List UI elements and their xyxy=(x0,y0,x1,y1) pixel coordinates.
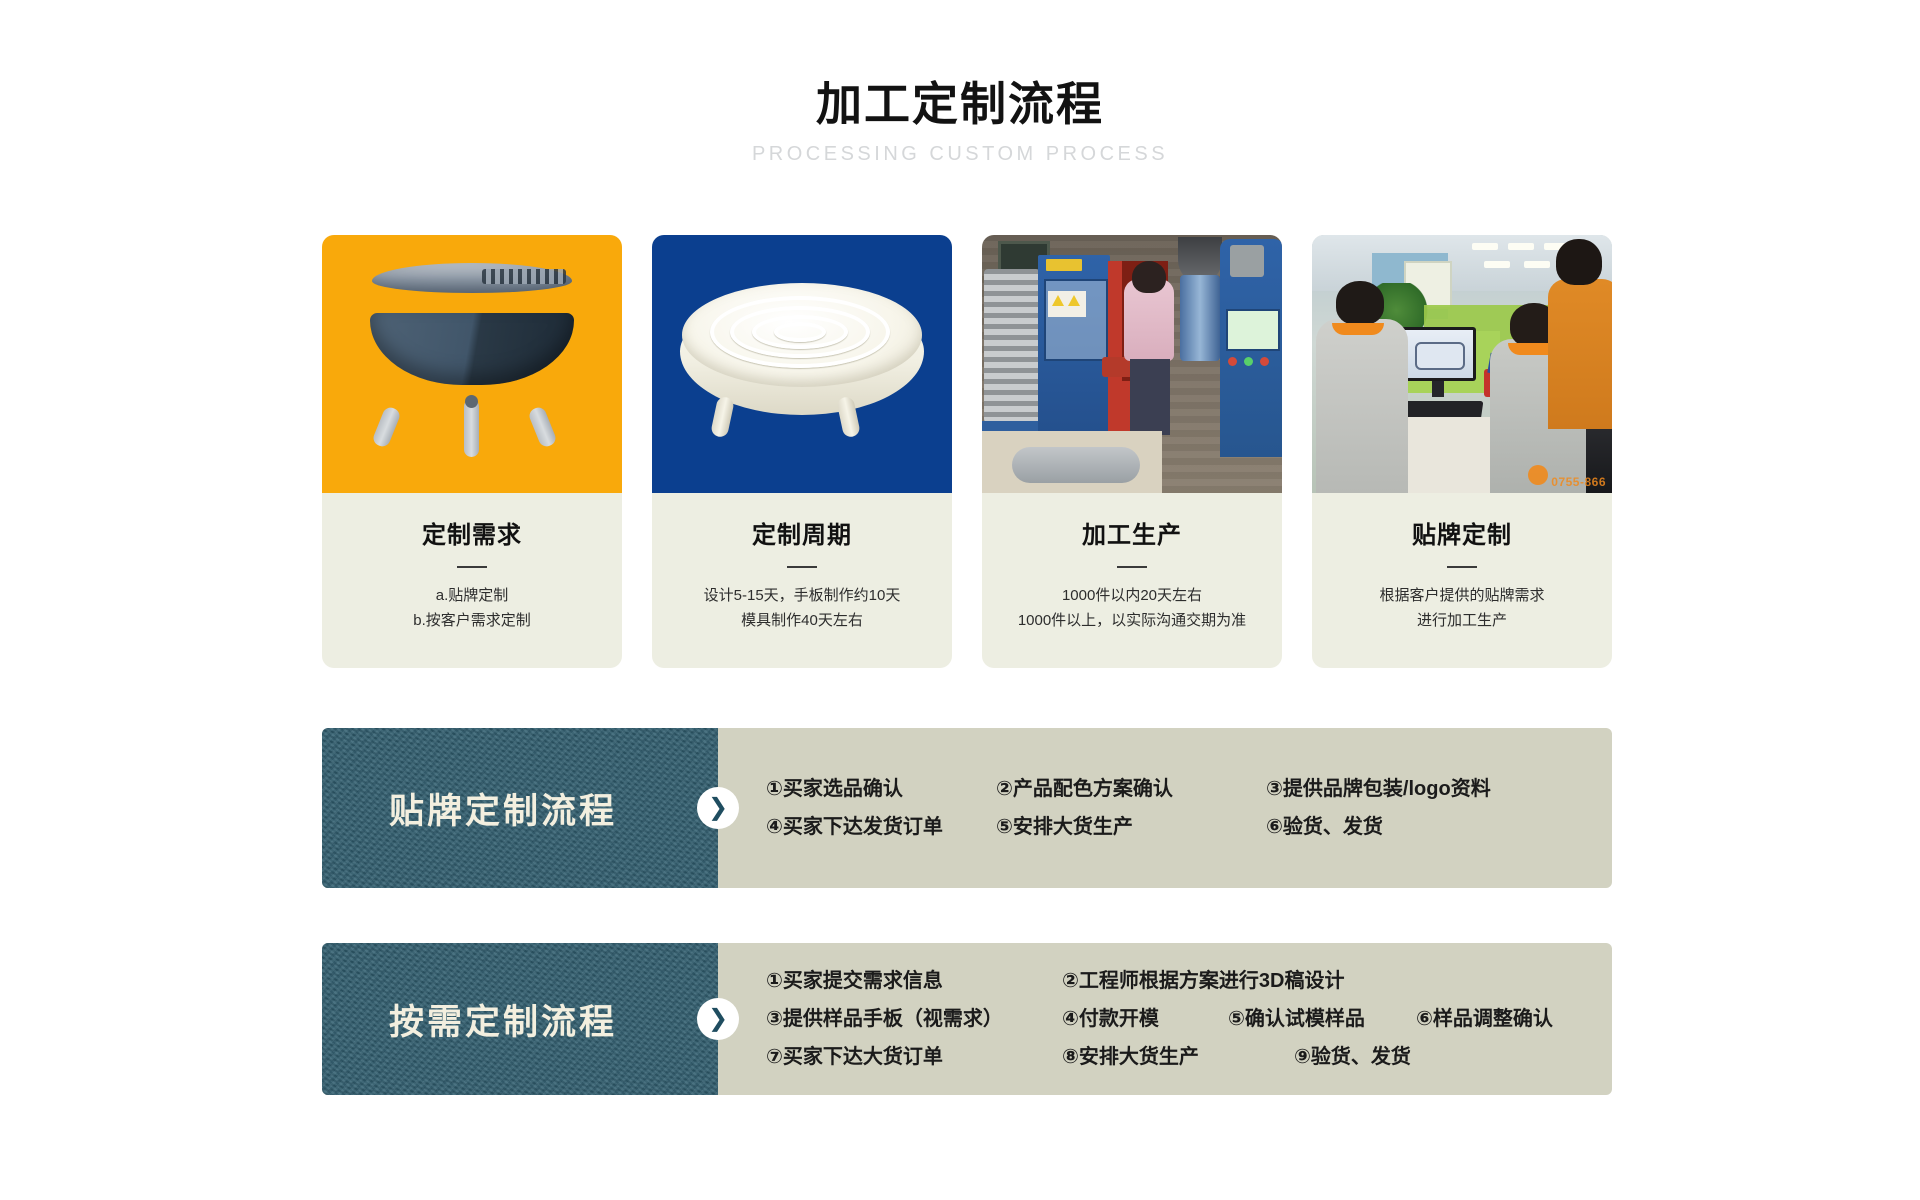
card-body-1: 定制需求 a.贴牌定制 b.按客户需求定制 xyxy=(322,493,622,668)
grill-leg-center xyxy=(464,399,479,457)
grill-lid-shape xyxy=(372,263,572,293)
engineer-3-head xyxy=(1556,239,1602,285)
card-media-3 xyxy=(982,235,1282,493)
oem-process-label: 贴牌定制流程 ❯ xyxy=(322,728,718,888)
ceiling-light xyxy=(1484,261,1510,268)
grill-bowl-shape xyxy=(370,313,574,385)
engineer-1-head xyxy=(1336,281,1384,325)
engineer-3-body xyxy=(1548,279,1612,429)
process-step: ③提供样品手板（视需求） xyxy=(766,1009,1062,1029)
process-card-production[interactable]: 加工生产 1000件以内20天左右 1000件以上，以实际沟通交期为准 xyxy=(982,235,1282,668)
process-step: ④买家下达发货订单 xyxy=(766,817,996,837)
engineer-1-collar xyxy=(1332,323,1384,335)
panel-button-green xyxy=(1244,357,1253,366)
engineering-office-photo: 0755-866 xyxy=(1312,235,1612,493)
step-row: ①买家选品确认 ②产品配色方案确认 ③提供品牌包装/logo资料 xyxy=(766,779,1612,799)
computer-monitor xyxy=(1400,327,1476,381)
process-card-oem-custom[interactable]: 0755-866 贴牌定制 根据客户提供的贴牌需求 进行加工生产 xyxy=(1312,235,1612,668)
process-step: ⑤确认试模样品 xyxy=(1228,1009,1416,1029)
process-step: ⑨验货、发货 xyxy=(1294,1047,1482,1067)
machine-yellow-label xyxy=(1046,259,1082,271)
card-body-3: 加工生产 1000件以内20天左右 1000件以上，以实际沟通交期为准 xyxy=(982,493,1282,668)
card-divider xyxy=(1117,566,1147,568)
ceiling-light xyxy=(1524,261,1550,268)
banner-label-text: 按需定制流程 xyxy=(389,994,651,1045)
monitor-screen xyxy=(1403,330,1473,378)
card-media-1 xyxy=(322,235,622,493)
watermark-logo-icon xyxy=(1528,465,1548,485)
process-step: ②工程师根据方案进行3D稿设计 xyxy=(1062,971,1345,991)
ceiling-light xyxy=(1508,243,1534,250)
process-page: 加工定制流程 PROCESSING CUSTOM PROCESS 定制需求 a.… xyxy=(0,0,1920,1200)
step-row: ⑦买家下达大货订单 ⑧安排大货生产 ⑨验货、发货 xyxy=(766,1047,1612,1067)
prototype-leg-left xyxy=(710,396,735,439)
process-step: ①买家选品确认 xyxy=(766,779,996,799)
ondemand-process-banner: 按需定制流程 ❯ ①买家提交需求信息 ②工程师根据方案进行3D稿设计 ③提供样品… xyxy=(322,943,1612,1095)
step-row: ③提供样品手板（视需求） ④付款开模 ⑤确认试模样品 ⑥样品调整确认 xyxy=(766,1009,1612,1029)
card-divider xyxy=(457,566,487,568)
chevron-right-icon: ❯ xyxy=(697,787,739,829)
process-card-row: 定制需求 a.贴牌定制 b.按客户需求定制 定制周期 xyxy=(322,235,1612,668)
card-description: 根据客户提供的贴牌需求 进行加工生产 xyxy=(1322,584,1602,634)
chevron-right-icon: ❯ xyxy=(697,998,739,1040)
page-title: 加工定制流程 xyxy=(0,78,1920,131)
metal-cylinder xyxy=(1180,275,1220,361)
grill-leg-right xyxy=(527,405,558,448)
card-title: 加工生产 xyxy=(992,515,1272,550)
card-description: a.贴牌定制 b.按客户需求定制 xyxy=(332,584,612,634)
worker-legs xyxy=(1130,359,1170,435)
panel-button-red xyxy=(1228,357,1237,366)
process-step: ⑥样品调整确认 xyxy=(1416,1009,1553,1029)
process-card-custom-cycle[interactable]: 定制周期 设计5-15天，手板制作约10天 模具制作40天左右 xyxy=(652,235,952,668)
panel-main-screen xyxy=(1226,309,1280,351)
watermark-text: 0755-866 xyxy=(1551,475,1606,489)
ceiling-light xyxy=(1472,243,1498,250)
card-divider xyxy=(1447,566,1477,568)
page-subtitle: PROCESSING CUSTOM PROCESS xyxy=(0,143,1920,166)
cad-drawing xyxy=(1415,342,1465,370)
process-step: ⑥验货、发货 xyxy=(1266,817,1383,837)
worker-head xyxy=(1132,261,1166,293)
stacked-parts xyxy=(984,269,1040,423)
molded-part xyxy=(1012,447,1140,483)
oem-process-steps: ①买家选品确认 ②产品配色方案确认 ③提供品牌包装/logo资料 ④买家下达发货… xyxy=(718,728,1612,888)
warning-sign xyxy=(1048,291,1086,317)
process-step: ⑤安排大货生产 xyxy=(996,817,1266,837)
process-step: ①买家提交需求信息 xyxy=(766,971,1062,991)
prototype-maze-pattern xyxy=(704,292,900,376)
card-title: 定制周期 xyxy=(662,515,942,550)
panel-button-red-2 xyxy=(1260,357,1269,366)
card-title: 贴牌定制 xyxy=(1322,515,1602,550)
process-step: ⑧安排大货生产 xyxy=(1062,1047,1294,1067)
card-body-2: 定制周期 设计5-15天，手板制作约10天 模具制作40天左右 xyxy=(652,493,952,668)
banner-label-text: 贴牌定制流程 xyxy=(389,783,651,834)
exploded-grill-illustration xyxy=(322,235,622,493)
process-card-custom-requirement[interactable]: 定制需求 a.贴牌定制 b.按客户需求定制 xyxy=(322,235,622,668)
ondemand-process-label: 按需定制流程 ❯ xyxy=(322,943,718,1095)
process-step: ③提供品牌包装/logo资料 xyxy=(1266,779,1491,799)
process-step: ④付款开模 xyxy=(1062,1009,1228,1029)
step-row: ①买家提交需求信息 ②工程师根据方案进行3D稿设计 xyxy=(766,971,1612,991)
white-prototype-photo xyxy=(652,235,952,493)
page-header: 加工定制流程 PROCESSING CUSTOM PROCESS xyxy=(0,0,1920,166)
card-divider xyxy=(787,566,817,568)
process-step: ②产品配色方案确认 xyxy=(996,779,1266,799)
ondemand-process-steps: ①买家提交需求信息 ②工程师根据方案进行3D稿设计 ③提供样品手板（视需求） ④… xyxy=(718,943,1612,1095)
card-media-4: 0755-866 xyxy=(1312,235,1612,493)
oem-process-banner: 贴牌定制流程 ❯ ①买家选品确认 ②产品配色方案确认 ③提供品牌包装/logo资… xyxy=(322,728,1612,888)
card-body-4: 贴牌定制 根据客户提供的贴牌需求 进行加工生产 xyxy=(1312,493,1612,668)
grill-leg-left xyxy=(371,405,402,448)
card-title: 定制需求 xyxy=(332,515,612,550)
monitor-stand xyxy=(1432,381,1444,397)
engineer-1-body xyxy=(1316,319,1408,493)
factory-production-photo xyxy=(982,235,1282,493)
panel-upper-screen xyxy=(1230,245,1264,277)
card-media-2 xyxy=(652,235,952,493)
process-step: ⑦买家下达大货订单 xyxy=(766,1047,1062,1067)
step-row: ④买家下达发货订单 ⑤安排大货生产 ⑥验货、发货 xyxy=(766,817,1612,837)
card-description: 1000件以内20天左右 1000件以上，以实际沟通交期为准 xyxy=(992,584,1272,634)
card-description: 设计5-15天，手板制作约10天 模具制作40天左右 xyxy=(662,584,942,634)
